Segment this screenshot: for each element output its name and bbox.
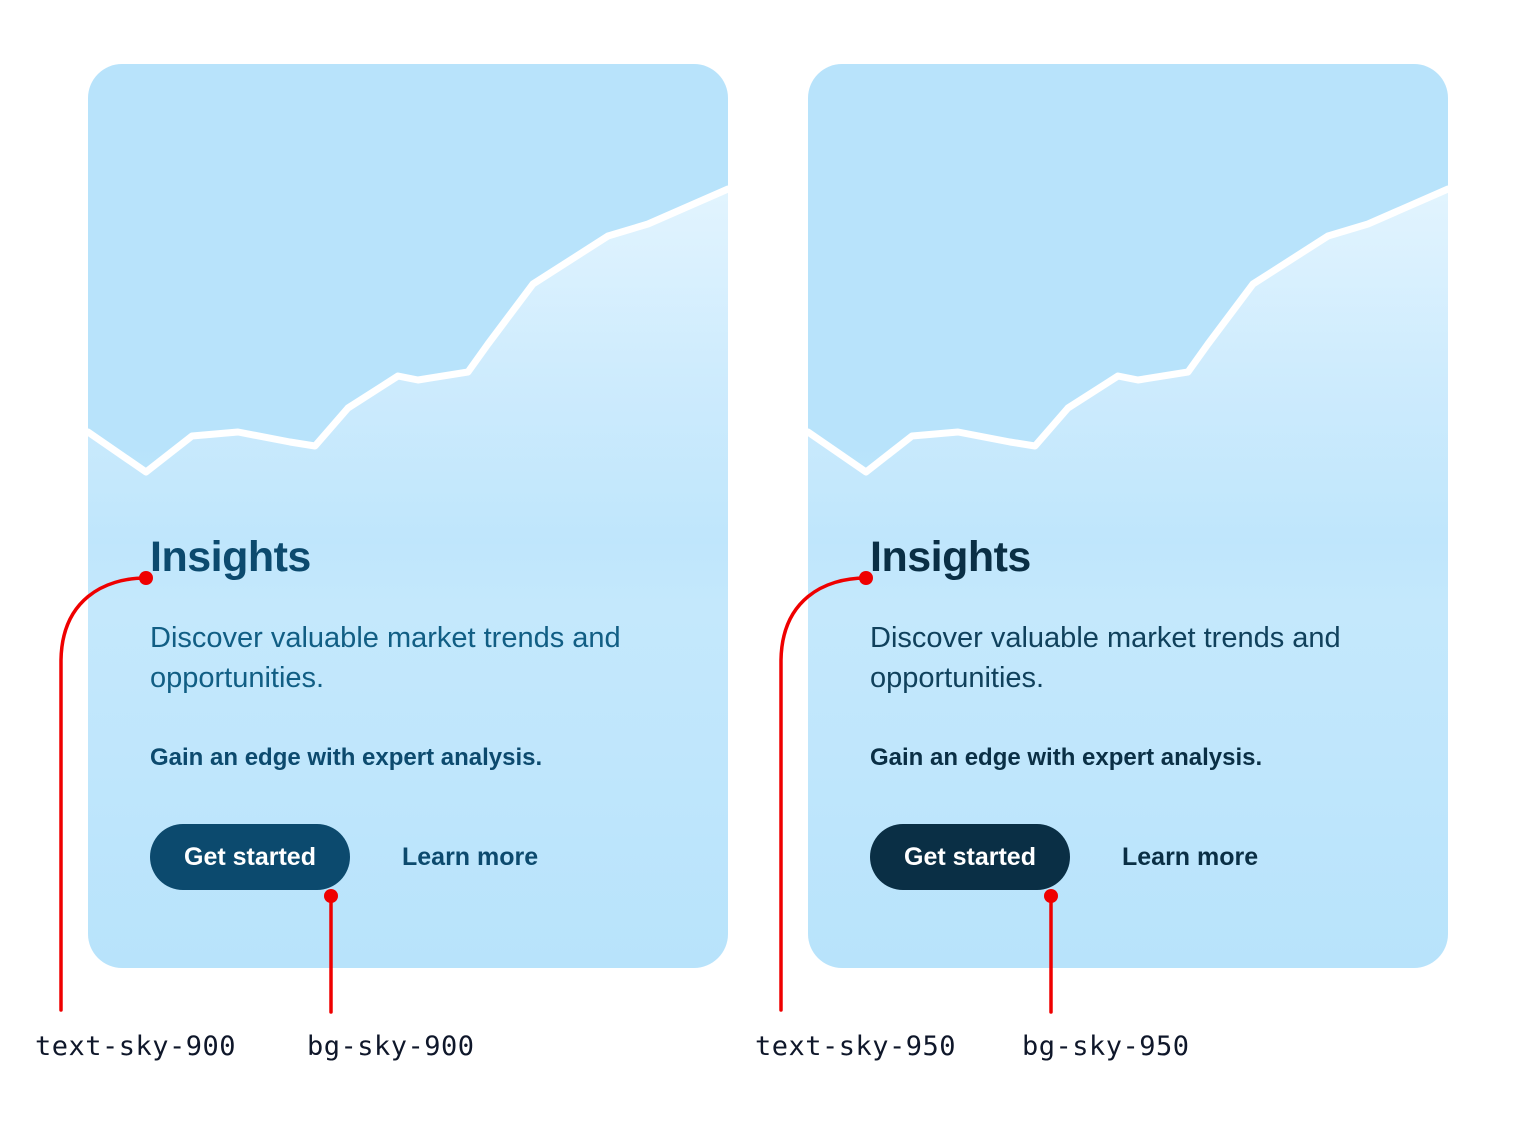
chart-trend-line <box>808 189 1448 472</box>
annotation-label-bg-sky-900: bg-sky-900 <box>307 1031 475 1062</box>
get-started-button[interactable]: Get started <box>870 824 1070 890</box>
card-description: Discover valuable market trends and oppo… <box>150 618 655 698</box>
card-title: Insights <box>870 536 1386 579</box>
card-actions: Get started Learn more <box>150 824 666 890</box>
insights-card-sky-900: Insights Discover valuable market trends… <box>88 64 728 968</box>
area-chart-sky-950 <box>808 64 1448 544</box>
card-actions: Get started Learn more <box>870 824 1386 890</box>
learn-more-link[interactable]: Learn more <box>402 843 538 872</box>
chart-trend-line <box>88 189 728 472</box>
card-subtext: Gain an edge with expert analysis. <box>150 742 666 773</box>
annotation-label-text-sky-950: text-sky-950 <box>755 1031 956 1062</box>
chart-area-fill <box>808 189 1448 544</box>
canvas: Insights Discover valuable market trends… <box>0 0 1536 1134</box>
chart-area-fill <box>88 189 728 544</box>
card-subtext: Gain an edge with expert analysis. <box>870 742 1386 773</box>
get-started-button[interactable]: Get started <box>150 824 350 890</box>
learn-more-link[interactable]: Learn more <box>1122 843 1258 872</box>
card-content-sky-900: Insights Discover valuable market trends… <box>150 536 666 890</box>
card-title: Insights <box>150 536 666 579</box>
annotation-label-bg-sky-950: bg-sky-950 <box>1022 1031 1190 1062</box>
card-content-sky-950: Insights Discover valuable market trends… <box>870 536 1386 890</box>
insights-card-sky-950: Insights Discover valuable market trends… <box>808 64 1448 968</box>
area-chart-sky-900 <box>88 64 728 544</box>
card-description: Discover valuable market trends and oppo… <box>870 618 1375 698</box>
annotation-label-text-sky-900: text-sky-900 <box>35 1031 236 1062</box>
